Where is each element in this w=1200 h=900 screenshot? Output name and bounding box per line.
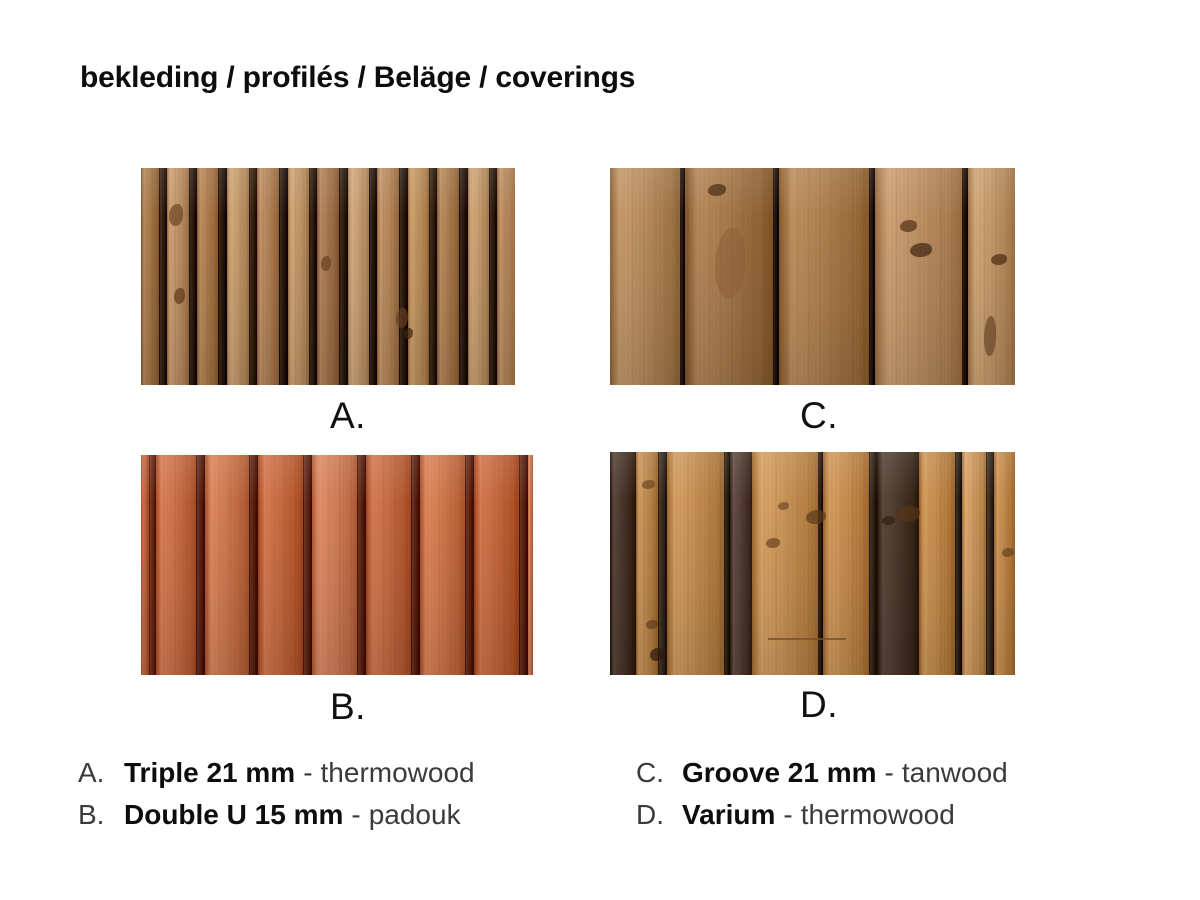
- wood-slat: [468, 168, 489, 385]
- legend-key: C.: [636, 757, 670, 789]
- caption-b: B.: [330, 686, 366, 728]
- wood-slat: [357, 455, 366, 675]
- wood-slat: [218, 168, 227, 385]
- wood-slat: [189, 168, 197, 385]
- wood-slat: [658, 452, 667, 675]
- wood-slat: [667, 452, 724, 675]
- legend-dash: -: [303, 757, 312, 789]
- legend-name: Double U 15 mm: [124, 799, 343, 831]
- wood-slat: [994, 452, 1015, 675]
- wood-slat: [752, 452, 818, 675]
- wood-slat: [309, 168, 317, 385]
- wood-slat: [823, 452, 869, 675]
- slide-canvas: bekleding / profilés / Beläge / covering…: [0, 0, 1200, 900]
- wood-slat: [489, 168, 497, 385]
- caption-c: C.: [800, 395, 838, 437]
- wood-slat: [730, 452, 752, 675]
- legend-name: Triple 21 mm: [124, 757, 295, 789]
- wood-slat: [257, 168, 279, 385]
- wood-slat: [875, 168, 962, 385]
- wood-slat: [437, 168, 459, 385]
- wood-slat: [685, 168, 773, 385]
- legend-dash: -: [885, 757, 894, 789]
- legend-key: B.: [78, 799, 112, 831]
- wood-slat: [986, 452, 994, 675]
- legend-material: thermowood: [321, 757, 475, 789]
- wood-slat: [399, 168, 408, 385]
- wood-slat: [258, 455, 303, 675]
- wood-slat: [497, 168, 515, 385]
- wood-slat: [429, 168, 437, 385]
- wood-slat: [459, 168, 468, 385]
- wood-slat: [317, 168, 339, 385]
- sample-image-b: [141, 455, 533, 675]
- legend-material: tanwood: [902, 757, 1008, 789]
- wood-slat: [205, 455, 249, 675]
- wood-slat: [227, 168, 249, 385]
- legend-material: thermowood: [801, 799, 955, 831]
- wood-slat: [197, 168, 218, 385]
- caption-a: A.: [330, 395, 366, 437]
- caption-d: D.: [800, 684, 838, 726]
- wood-slat: [610, 168, 680, 385]
- wood-slat: [420, 455, 465, 675]
- sample-image-a: [141, 168, 515, 385]
- wood-slat: [408, 168, 429, 385]
- wood-slat: [312, 455, 357, 675]
- wood-slat: [377, 168, 399, 385]
- wood-slat: [962, 452, 986, 675]
- wood-slat: [369, 168, 377, 385]
- wood-slat: [141, 168, 159, 385]
- legend-column-right: C. Groove 21 mm - tanwood D. Varium - th…: [636, 757, 1136, 841]
- legend-column-left: A. Triple 21 mm - thermowood B. Double U…: [78, 757, 638, 841]
- legend-dash: -: [351, 799, 360, 831]
- sample-image-d: [610, 452, 1015, 675]
- wood-slat: [288, 168, 309, 385]
- legend-key: A.: [78, 757, 112, 789]
- wood-slat: [919, 452, 955, 675]
- wood-slat: [167, 168, 189, 385]
- wood-slat: [968, 168, 1015, 385]
- wood-slat: [339, 168, 348, 385]
- wood-slat: [465, 455, 474, 675]
- wood-slat: [149, 455, 156, 675]
- wood-slat: [156, 455, 196, 675]
- wood-slat: [610, 452, 636, 675]
- wood-slat: [519, 455, 528, 675]
- wood-slat: [411, 455, 420, 675]
- wood-slat: [303, 455, 312, 675]
- wood-slat: [877, 452, 919, 675]
- wood-slat: [779, 168, 869, 385]
- legend-item-c: C. Groove 21 mm - tanwood: [636, 757, 1136, 799]
- wood-slat: [955, 452, 962, 675]
- wood-slat: [141, 455, 149, 675]
- wood-slat: [196, 455, 205, 675]
- legend-item-a: A. Triple 21 mm - thermowood: [78, 757, 638, 799]
- wood-slat: [279, 168, 288, 385]
- legend-key: D.: [636, 799, 670, 831]
- sample-image-c: [610, 168, 1015, 385]
- legend-dash: -: [783, 799, 792, 831]
- wood-slat: [366, 455, 411, 675]
- legend-name: Varium: [682, 799, 775, 831]
- legend-name: Groove 21 mm: [682, 757, 877, 789]
- page-title: bekleding / profilés / Beläge / covering…: [80, 61, 635, 95]
- legend-item-b: B. Double U 15 mm - padouk: [78, 799, 638, 841]
- wood-slat: [249, 455, 258, 675]
- wood-slat: [636, 452, 658, 675]
- wood-slat: [249, 168, 257, 385]
- wood-slat: [348, 168, 369, 385]
- wood-slat: [869, 452, 877, 675]
- legend-material: padouk: [369, 799, 461, 831]
- wood-slat: [474, 455, 519, 675]
- wood-slat: [159, 168, 167, 385]
- wood-slat: [528, 455, 533, 675]
- legend-item-d: D. Varium - thermowood: [636, 799, 1136, 841]
